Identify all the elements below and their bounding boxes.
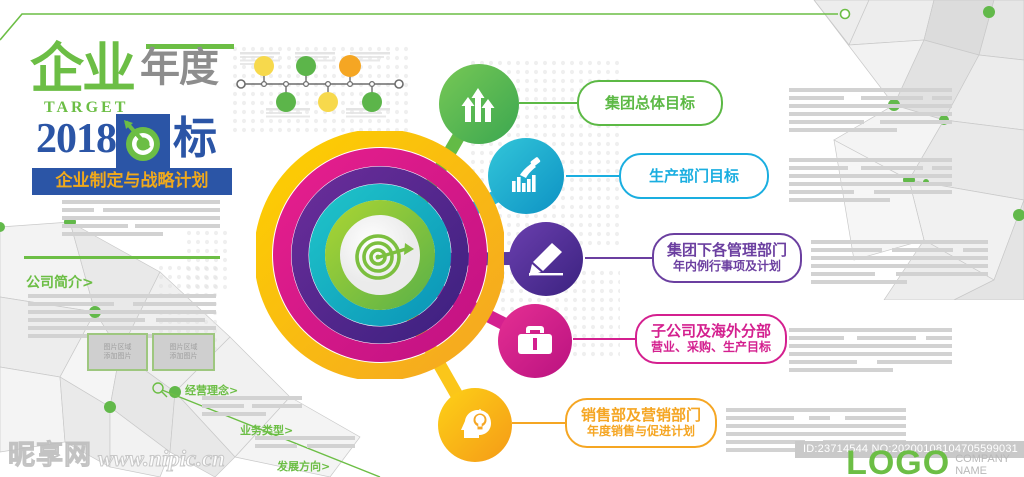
pill-department-plan[interactable]: 集团下各管理部门 年内例行事项及计划 bbox=[652, 233, 802, 283]
title-year: 2018 bbox=[36, 118, 116, 160]
logo-text: LOGO bbox=[846, 444, 950, 477]
node-department-plan[interactable] bbox=[509, 222, 583, 296]
section-company-intro: 公司简介> bbox=[26, 272, 94, 292]
watermark-cn-text: 昵享网 bbox=[8, 433, 92, 472]
logo-company-line2: NAME bbox=[955, 465, 987, 477]
title-main-grey: 年度 bbox=[140, 48, 218, 88]
pill-department-plan-line2: 年内例行事项及计划 bbox=[673, 259, 781, 274]
business-type-lines bbox=[255, 436, 355, 452]
logo-block: LOGO COMPANY NAME bbox=[846, 444, 1010, 477]
pill-production-goal-line1: 生产部门目标 bbox=[649, 168, 739, 185]
pill-group-goal[interactable]: 集团总体目标 bbox=[577, 80, 723, 126]
pill-department-plan-line1: 集团下各管理部门 bbox=[667, 242, 787, 259]
node-production-goal[interactable] bbox=[488, 138, 564, 214]
section-development: 发展方向> bbox=[277, 458, 330, 474]
title-biao: 标 bbox=[173, 117, 217, 161]
node-subsidiary-goal[interactable] bbox=[498, 304, 572, 378]
image-placeholder-2[interactable]: 图片区域添加图片 bbox=[152, 333, 215, 371]
pill-production-goal[interactable]: 生产部门目标 bbox=[619, 153, 769, 199]
arrows-up-icon bbox=[457, 82, 501, 126]
pencil-icon bbox=[526, 239, 566, 279]
logo-company-name: COMPANY NAME bbox=[955, 453, 1010, 477]
poster-canvas: 企业 年度 TARGET 2018 标 企业制定与战略计划 公司简介> bbox=[0, 0, 1024, 477]
intro-placeholder-lines-top bbox=[62, 200, 220, 240]
pill-sales-plan-line1: 销售部及营销部门 bbox=[581, 407, 701, 424]
management-idea-lines bbox=[202, 396, 302, 420]
pill-subsidiary-goal-line2: 营业、采购、生产目标 bbox=[651, 340, 771, 355]
poster-title-block: 企业 年度 TARGET 2018 标 企业制定与战略计划 bbox=[18, 42, 233, 197]
node-group-goal[interactable] bbox=[439, 64, 519, 144]
subtitle-text: 企业制定与战略计划 bbox=[36, 172, 228, 191]
pill-group-goal-line1: 集团总体目标 bbox=[605, 95, 695, 112]
paragraph-lines-2 bbox=[789, 158, 952, 206]
image-placeholder-2-label: 图片区域添加图片 bbox=[170, 343, 198, 361]
image-placeholder-1-label: 图片区域添加图片 bbox=[104, 343, 132, 361]
pill-sales-plan-line2: 年度销售与促进计划 bbox=[587, 424, 695, 439]
logo-company-line1: COMPANY bbox=[955, 453, 1010, 465]
paragraph-lines-3 bbox=[811, 240, 988, 288]
title-main-green: 企业 bbox=[30, 42, 134, 96]
briefcase-icon bbox=[514, 320, 556, 362]
paragraph-lines-1 bbox=[789, 88, 952, 136]
pill-subsidiary-goal-line1: 子公司及海外分部 bbox=[651, 323, 771, 340]
timeline-graphic bbox=[236, 52, 404, 120]
site-watermark: 昵享网 www.nipic.cn bbox=[8, 433, 225, 472]
watermark-url-text: www.nipic.cn bbox=[98, 446, 225, 472]
image-placeholder-1[interactable]: 图片区域添加图片 bbox=[87, 333, 148, 371]
concentric-rings-graphic bbox=[256, 131, 504, 379]
node-sales-plan[interactable] bbox=[438, 388, 512, 462]
pill-subsidiary-goal[interactable]: 子公司及海外分部 营业、采购、生产目标 bbox=[635, 314, 787, 364]
target-arrow-icon bbox=[116, 114, 170, 168]
hand-chart-icon bbox=[505, 155, 547, 197]
green-divider-1 bbox=[24, 256, 220, 259]
paragraph-lines-4 bbox=[789, 328, 952, 376]
head-bulb-icon bbox=[454, 404, 496, 446]
title-target-badge bbox=[116, 114, 170, 168]
pill-sales-plan[interactable]: 销售部及营销部门 年度销售与促进计划 bbox=[565, 398, 717, 448]
